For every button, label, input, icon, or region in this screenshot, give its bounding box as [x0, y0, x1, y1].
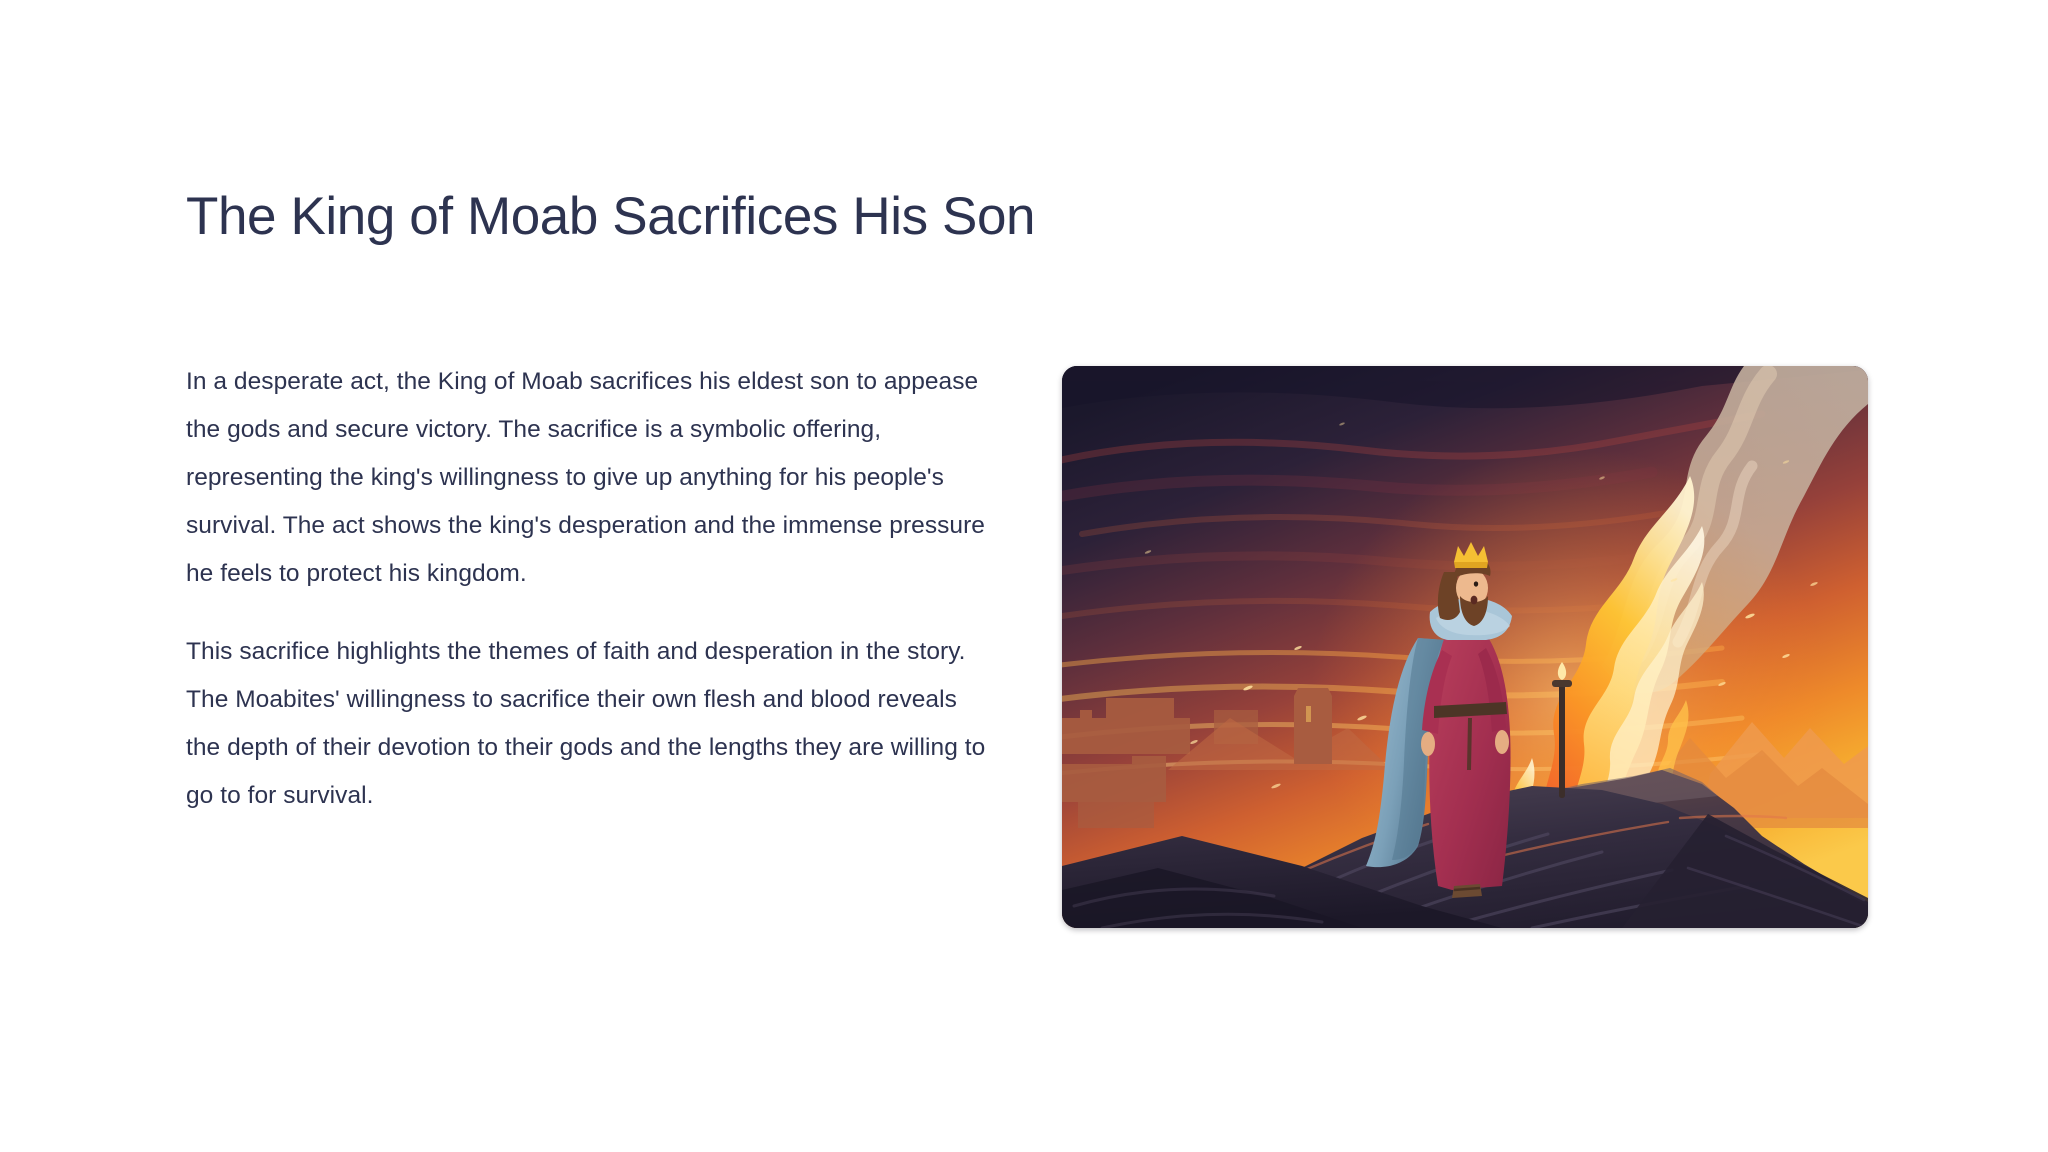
- illustration-card: [1062, 366, 1868, 928]
- slide-root: The King of Moab Sacrifices His Son In a…: [0, 0, 2048, 1152]
- hand-right: [1495, 730, 1509, 754]
- page-title: The King of Moab Sacrifices His Son: [186, 186, 1886, 249]
- city-tower: [1294, 688, 1332, 764]
- body-paragraph: This sacrifice highlights the themes of …: [186, 628, 996, 820]
- illustration-image: [1062, 366, 1868, 928]
- body-text-column: In a desperate act, the King of Moab sac…: [186, 358, 996, 820]
- hand-left: [1421, 732, 1435, 756]
- body-paragraph: In a desperate act, the King of Moab sac…: [186, 358, 996, 598]
